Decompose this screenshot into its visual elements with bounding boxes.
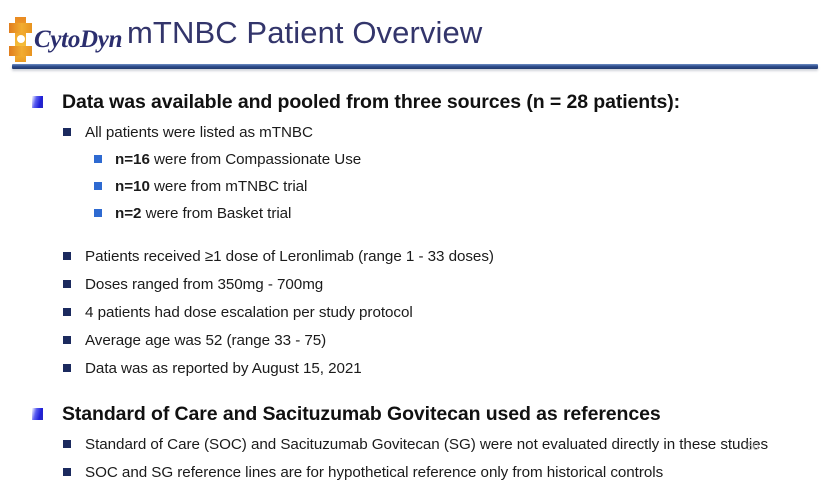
list-item: Average age was 52 (range 33 - 75) xyxy=(0,330,830,351)
page-number: 50 xyxy=(747,441,759,453)
list-item-text: All patients were listed as mTNBC xyxy=(85,124,313,141)
source-count: n=10 xyxy=(115,178,150,195)
bullet-square-level3-icon xyxy=(94,182,102,190)
list-item-text: 4 patients had dose escalation per study… xyxy=(85,304,413,321)
list-item-text: Data was as reported by August 15, 2021 xyxy=(85,360,362,377)
bullet-square-level2-icon xyxy=(63,336,71,344)
list-item-text: Patients received ≥1 dose of Leronlimab … xyxy=(85,248,494,265)
page-title: mTNBC Patient Overview xyxy=(127,15,482,51)
list-item: Patients received ≥1 dose of Leronlimab … xyxy=(0,246,830,267)
list-item: n=10 were from mTNBC trial xyxy=(0,176,830,197)
bullet-square-level3-icon xyxy=(94,209,102,217)
list-item-text: Standard of Care (SOC) and Sacituzumab G… xyxy=(85,436,768,453)
bullet-square-level2-icon xyxy=(63,280,71,288)
bullet-square-level2-icon xyxy=(63,308,71,316)
title-divider xyxy=(12,64,818,69)
slide-body: Data was available and pooled from three… xyxy=(0,78,830,483)
list-item: 4 patients had dose escalation per study… xyxy=(0,302,830,323)
slide-header: CytoDyn mTNBC Patient Overview xyxy=(0,0,830,70)
section-heading-2: Standard of Care and Sacituzumab Govitec… xyxy=(0,401,830,427)
list-item: Data was as reported by August 15, 2021 xyxy=(0,358,830,379)
list-item: Standard of Care (SOC) and Sacituzumab G… xyxy=(0,434,830,455)
bullet-square-level2-icon xyxy=(63,128,71,136)
list-item: n=16 were from Compassionate Use xyxy=(0,149,830,170)
bullet-square-level3-icon xyxy=(94,155,102,163)
bullet-square-level1-icon xyxy=(32,96,43,108)
source-count: n=16 xyxy=(115,151,150,168)
cytodyn-cross-mark-icon xyxy=(9,17,32,62)
source-count: n=2 xyxy=(115,205,141,222)
list-item: SOC and SG reference lines are for hypot… xyxy=(0,462,830,483)
list-item: Doses ranged from 350mg - 700mg xyxy=(0,274,830,295)
list-item-text: Doses ranged from 350mg - 700mg xyxy=(85,276,323,293)
bullet-square-level2-icon xyxy=(63,440,71,448)
brand-wordmark: CytoDyn xyxy=(34,27,122,52)
list-item: n=2 were from Basket trial xyxy=(0,203,830,224)
outline-list: Data was available and pooled from three… xyxy=(0,89,830,483)
list-item: All patients were listed as mTNBC xyxy=(0,122,830,143)
bullet-square-level2-icon xyxy=(63,252,71,260)
bullet-square-level1-icon xyxy=(32,408,43,420)
brand-logo: CytoDyn xyxy=(9,16,122,62)
bullet-square-level2-icon xyxy=(63,468,71,476)
list-item-text: Average age was 52 (range 33 - 75) xyxy=(85,332,326,349)
section-heading-2-text: Standard of Care and Sacituzumab Govitec… xyxy=(62,403,661,425)
bullet-square-level2-icon xyxy=(63,364,71,372)
slide-canvas: CytoDyn mTNBC Patient Overview Data was … xyxy=(0,0,830,467)
source-description: were from Basket trial xyxy=(141,205,291,222)
source-description: were from mTNBC trial xyxy=(150,178,308,195)
section-heading-1: Data was available and pooled from three… xyxy=(0,89,830,115)
section-heading-1-text: Data was available and pooled from three… xyxy=(62,91,680,113)
source-description: were from Compassionate Use xyxy=(150,151,361,168)
